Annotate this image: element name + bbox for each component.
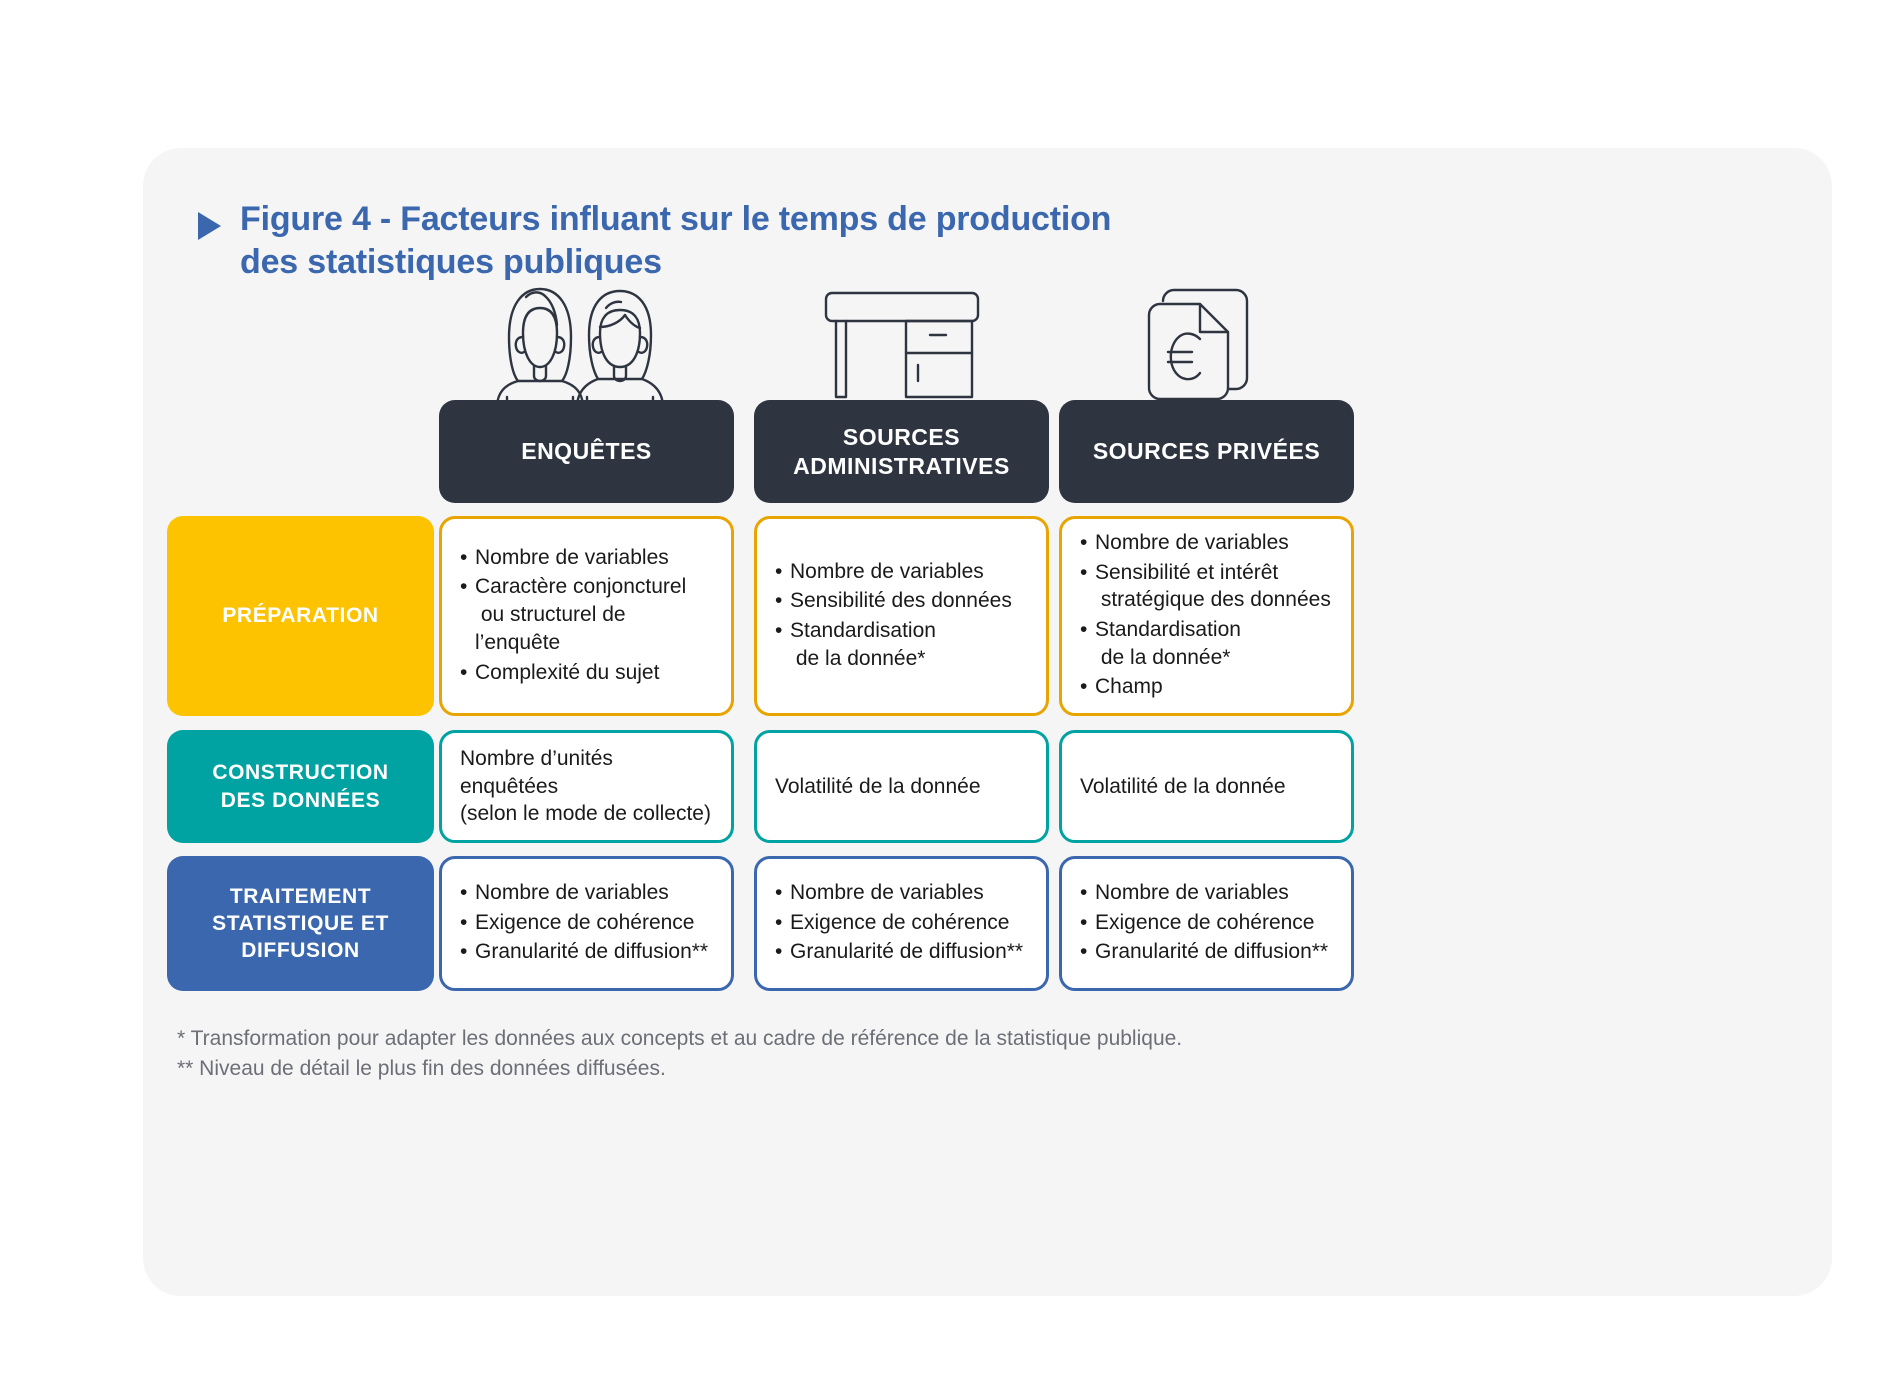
list-item-text: Granularité de diffusion** xyxy=(790,940,1023,963)
list-item: Standardisation de la donnée* xyxy=(1080,616,1333,671)
bullet-list: Nombre de variables Exigence de cohérenc… xyxy=(1080,879,1333,968)
list-item-text: Nombre de variables xyxy=(790,881,984,904)
icon-slot-sources-administratives xyxy=(754,270,1049,405)
list-item-text: Complexité du sujet xyxy=(475,661,659,684)
list-item-text: Nombre de variables xyxy=(790,560,984,583)
icon-slot-enquetes xyxy=(439,270,734,405)
column-header-enquetes[interactable]: ENQUÊTES xyxy=(439,400,734,503)
cell-preparation-sources-privees[interactable]: Nombre de variables Sensibilité et intér… xyxy=(1059,516,1354,716)
row-label-preparation[interactable]: PRÉPARATION xyxy=(167,516,434,716)
row-label-construction-des-donnees[interactable]: CONSTRUCTION DES DONNÉES xyxy=(167,730,434,843)
list-item: Granularité de diffusion** xyxy=(775,938,1028,966)
bullet-list: Nombre de variables Caractère conjonctur… xyxy=(460,544,713,689)
footnote-single-asterisk: * Transformation pour adapter les donnée… xyxy=(177,1024,1182,1054)
row-construction-des-donnees: CONSTRUCTION DES DONNÉES Nombre d’unités… xyxy=(143,730,1832,843)
column-header-sources-administratives[interactable]: SOURCES ADMINISTRATIVES xyxy=(754,400,1049,503)
column-header-line-1: SOURCES xyxy=(843,424,960,450)
row-label-line-1: CONSTRUCTION xyxy=(212,761,388,784)
bullet-list: Nombre de variables Exigence de cohérenc… xyxy=(775,879,1028,968)
cell-traitement-enquetes[interactable]: Nombre de variables Exigence de cohérenc… xyxy=(439,856,734,991)
column-header-sources-privees[interactable]: SOURCES PRIVÉES xyxy=(1059,400,1354,503)
list-item: Complexité du sujet xyxy=(460,659,713,687)
icon-slot-sources-privees xyxy=(1059,270,1354,405)
list-item: Nombre de variables xyxy=(775,879,1028,907)
column-headers-row: ENQUÊTES SOURCES ADMINISTRATIVES SOURCES… xyxy=(143,400,1832,503)
list-item-text: Exigence de cohérence xyxy=(1095,911,1315,934)
list-item-text: Nombre de variables xyxy=(475,881,669,904)
desk-icon xyxy=(812,285,992,405)
row-traitement-statistique-et-diffusion: TRAITEMENT STATISTIQUE ET DIFFUSION Nomb… xyxy=(143,856,1832,991)
list-item: Sensibilité des données xyxy=(775,587,1028,615)
bullet-list: Nombre de variables Sensibilité des donn… xyxy=(775,558,1028,675)
row-preparation: PRÉPARATION Nombre de variables Caractèr… xyxy=(143,516,1832,716)
list-item: Nombre de variables xyxy=(1080,879,1333,907)
cell-preparation-enquetes[interactable]: Nombre de variables Caractère conjonctur… xyxy=(439,516,734,716)
cell-traitement-sources-privees[interactable]: Nombre de variables Exigence de cohérenc… xyxy=(1059,856,1354,991)
cell-construction-enquetes[interactable]: Nombre d’unités enquêtées (selon le mode… xyxy=(439,730,734,843)
list-item: Exigence de cohérence xyxy=(460,909,713,937)
list-item: Standardisation de la donnée* xyxy=(775,617,1028,672)
list-item: Sensibilité et intérêt stratégique des d… xyxy=(1080,559,1333,614)
list-item: Granularité de diffusion** xyxy=(460,938,713,966)
list-item: Exigence de cohérence xyxy=(1080,909,1333,937)
figure-card: Figure 4 - Facteurs influant sur le temp… xyxy=(143,148,1832,1296)
cell-construction-sources-privees[interactable]: Volatilité de la donnée xyxy=(1059,730,1354,843)
cell-preparation-sources-administratives[interactable]: Nombre de variables Sensibilité des donn… xyxy=(754,516,1049,716)
cell-text: Volatilité de la donnée xyxy=(1080,773,1333,801)
row-label-line-2: DES DONNÉES xyxy=(221,789,380,812)
row-label-traitement-statistique-et-diffusion[interactable]: TRAITEMENT STATISTIQUE ET DIFFUSION xyxy=(167,856,434,991)
list-item-text: Nombre de variables xyxy=(475,546,669,569)
list-item: Caractère conjoncturel ou structurel de … xyxy=(460,573,713,656)
cell-text-line-1: Nombre d’unités enquêtées xyxy=(460,747,613,798)
row-label-line-1: TRAITEMENT xyxy=(230,885,371,908)
triangle-right-icon xyxy=(198,212,221,240)
list-item-text: Exigence de cohérence xyxy=(475,911,695,934)
list-item-text: Granularité de diffusion** xyxy=(1095,940,1328,963)
list-item-text: Sensibilité des données xyxy=(790,589,1012,612)
list-item-text: Granularité de diffusion** xyxy=(475,940,708,963)
footnote-double-asterisk: ** Niveau de détail le plus fin des donn… xyxy=(177,1054,1182,1084)
bullet-list: Nombre de variables Exigence de cohérenc… xyxy=(460,879,713,968)
column-header-line-2: ADMINISTRATIVES xyxy=(793,453,1010,479)
row-label-line-3: DIFFUSION xyxy=(241,939,360,962)
column-icons-row xyxy=(143,270,1832,405)
two-people-icon xyxy=(474,275,699,405)
cell-text: Volatilité de la donnée xyxy=(775,773,1028,801)
list-item-text: Nombre de variables xyxy=(1095,881,1289,904)
list-item: Nombre de variables xyxy=(775,558,1028,586)
list-item-text: Nombre de variables xyxy=(1095,531,1289,554)
list-item: Champ xyxy=(1080,673,1333,701)
cell-text-line-2: (selon le mode de collecte) xyxy=(460,802,711,825)
list-item: Exigence de cohérence xyxy=(775,909,1028,937)
list-item-text: Champ xyxy=(1095,675,1163,698)
footnotes: * Transformation pour adapter les donnée… xyxy=(177,1024,1182,1085)
cell-text: Nombre d’unités enquêtées (selon le mode… xyxy=(460,745,713,828)
cell-construction-sources-administratives[interactable]: Volatilité de la donnée xyxy=(754,730,1049,843)
bullet-list: Nombre de variables Sensibilité et intér… xyxy=(1080,529,1333,703)
list-item: Nombre de variables xyxy=(460,544,713,572)
list-item: Granularité de diffusion** xyxy=(1080,938,1333,966)
list-item: Nombre de variables xyxy=(1080,529,1333,557)
list-item-text: Exigence de cohérence xyxy=(790,911,1010,934)
euro-documents-icon xyxy=(1144,275,1269,405)
row-label-line-2: STATISTIQUE ET xyxy=(212,912,389,935)
figure-title-line-1: Figure 4 - Facteurs influant sur le temp… xyxy=(240,198,1111,241)
cell-traitement-sources-administratives[interactable]: Nombre de variables Exigence de cohérenc… xyxy=(754,856,1049,991)
list-item: Nombre de variables xyxy=(460,879,713,907)
